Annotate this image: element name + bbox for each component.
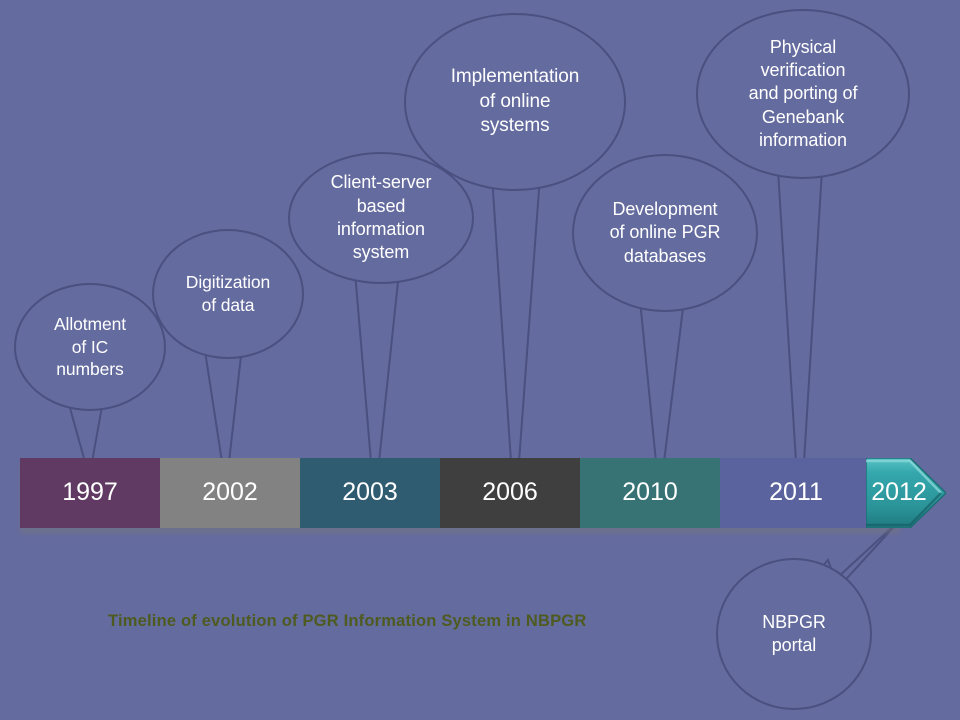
- timeline-year-label: 2011: [769, 478, 823, 507]
- timeline-diagram: Allotment of IC numbers Digitization of …: [0, 0, 960, 720]
- callout-development-online-pgr-databases[interactable]: Development of online PGR databases: [572, 154, 758, 312]
- timeline-segment-2010[interactable]: 2010: [580, 458, 720, 528]
- timeline-bar: 1997 2002 2003 2006 2010 2011: [14, 458, 946, 528]
- callout-label: Implementation of online systems: [443, 65, 588, 139]
- tail-2006: [492, 176, 540, 462]
- callout-label: Allotment of IC numbers: [46, 313, 134, 381]
- callout-nbpgr-portal[interactable]: NBPGR portal: [716, 558, 872, 710]
- timeline-year-label: 2002: [202, 478, 258, 507]
- timeline-segment-1997[interactable]: 1997: [20, 458, 160, 528]
- timeline-segment-2011[interactable]: 2011: [720, 458, 872, 528]
- callout-label: Digitization of data: [178, 271, 278, 317]
- tail-2010: [640, 300, 684, 462]
- callout-label: NBPGR portal: [754, 611, 834, 658]
- timeline-year-label: 2006: [482, 478, 538, 507]
- callout-digitization-of-data[interactable]: Digitization of data: [152, 229, 304, 359]
- timeline-segment-2006[interactable]: 2006: [440, 458, 580, 528]
- callout-label: Development of online PGR databases: [602, 198, 729, 268]
- callout-implementation-online-systems[interactable]: Implementation of online systems: [404, 13, 626, 191]
- timeline-year-label: 2012: [871, 478, 927, 507]
- callout-allotment-ic-numbers[interactable]: Allotment of IC numbers: [14, 283, 166, 411]
- callout-physical-verification-porting[interactable]: Physical verification and porting of Gen…: [696, 9, 910, 179]
- timeline-year-label: 2010: [622, 478, 678, 507]
- timeline-segment-2002[interactable]: 2002: [160, 458, 300, 528]
- timeline-year-label: 2003: [342, 478, 398, 507]
- timeline-segment-2003[interactable]: 2003: [300, 458, 440, 528]
- tail-2003: [355, 272, 399, 462]
- timeline-year-2012-label-wrap: 2012: [866, 458, 932, 528]
- callout-label: Client-server based information system: [323, 171, 440, 265]
- tail-2011: [778, 170, 822, 462]
- timeline-year-label: 1997: [62, 478, 118, 507]
- diagram-caption: Timeline of evolution of PGR Information…: [108, 612, 586, 631]
- callout-label: Physical verification and porting of Gen…: [741, 36, 866, 153]
